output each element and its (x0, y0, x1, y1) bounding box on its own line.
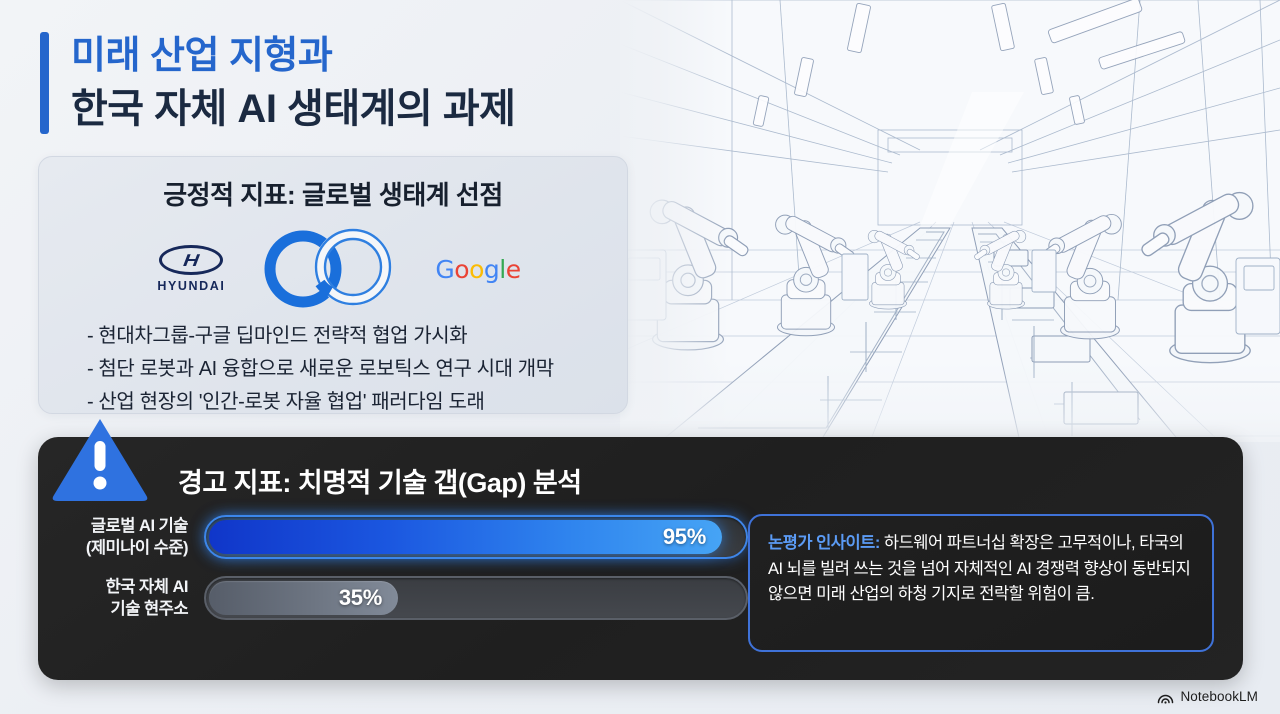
notebooklm-footer: NotebookLM (1157, 689, 1258, 704)
partnership-rings-icon (241, 226, 431, 312)
google-letter-o2: o (469, 255, 484, 284)
list-item: - 산업 현장의 '인간-로봇 자율 협업' 패러다임 도래 (87, 386, 627, 419)
bar-label-global-ai: 글로벌 AI 기술 (제미나이 수준) (56, 515, 204, 560)
positive-card-heading: 긍정적 지표: 글로벌 생태계 선점 (39, 175, 627, 212)
google-wordmark: Google (435, 255, 520, 284)
notebooklm-label: NotebookLM (1180, 689, 1258, 704)
google-letter-e: e (506, 255, 521, 284)
analyst-insight-box: 논평가 인사이트: 하드웨어 파트너십 확장은 고무적이나, 타국의 AI 뇌를… (748, 514, 1214, 652)
google-letter-g1: G (435, 255, 454, 284)
bar-row-korea-ai: 한국 자체 AI 기술 현주소 35% (56, 576, 748, 621)
positive-bullet-list: - 현대차그룹-구글 딥마인드 전략적 협업 가시화 - 첨단 로봇과 AI 융… (39, 320, 627, 419)
positive-indicator-card: 긍정적 지표: 글로벌 생태계 선점 H HYUNDAI Google (38, 156, 628, 414)
bar-track-global-ai: 95% (204, 515, 748, 559)
partner-logo-row: H HYUNDAI Google (39, 226, 627, 312)
google-letter-g2: g (484, 255, 499, 284)
hyundai-wordmark: HYUNDAI (145, 279, 237, 293)
bar-row-global-ai: 글로벌 AI 기술 (제미나이 수준) 95% (56, 515, 748, 560)
slide-root: 미래 산업 지형과 한국 자체 AI 생태계의 과제 긍정적 지표: 글로벌 생… (0, 0, 1280, 714)
background-factory-illustration (620, 0, 1280, 442)
warning-panel-heading: 경고 지표: 치명적 기술 갭(Gap) 분석 (178, 461, 582, 500)
bar-value-global-ai: 95% (663, 524, 706, 550)
title-line-2: 한국 자체 AI 생태계의 과제 (71, 84, 515, 134)
hyundai-h-letter: H (183, 252, 201, 269)
title-accent-bar (40, 32, 49, 134)
bar-value-korea-ai: 35% (339, 585, 382, 611)
hyundai-logo: H HYUNDAI (145, 245, 237, 293)
insight-label: 논평가 인사이트: (768, 534, 880, 552)
insight-text: 논평가 인사이트: 하드웨어 파트너십 확장은 고무적이나, 타국의 AI 뇌를… (768, 531, 1194, 608)
tech-gap-bar-chart: 글로벌 AI 기술 (제미나이 수준) 95% 한국 자체 AI 기술 현주소 … (56, 515, 748, 636)
hyundai-mark-icon: H (159, 245, 223, 275)
title-line-1: 미래 산업 지형과 (71, 34, 515, 80)
list-item: - 현대차그룹-구글 딥마인드 전략적 협업 가시화 (87, 320, 627, 353)
list-item: - 첨단 로봇과 AI 융합으로 새로운 로보틱스 연구 시대 개막 (87, 353, 627, 386)
bar-track-korea-ai: 35% (204, 576, 748, 620)
warning-triangle-icon (50, 415, 150, 503)
page-title: 미래 산업 지형과 한국 자체 AI 생태계의 과제 (40, 32, 515, 134)
google-letter-o1: o (454, 255, 469, 284)
bar-label-korea-ai: 한국 자체 AI 기술 현주소 (56, 576, 204, 621)
notebooklm-icon (1157, 690, 1174, 704)
bar-fill-korea-ai: 35% (209, 581, 398, 615)
bar-fill-global-ai: 95% (209, 520, 722, 554)
